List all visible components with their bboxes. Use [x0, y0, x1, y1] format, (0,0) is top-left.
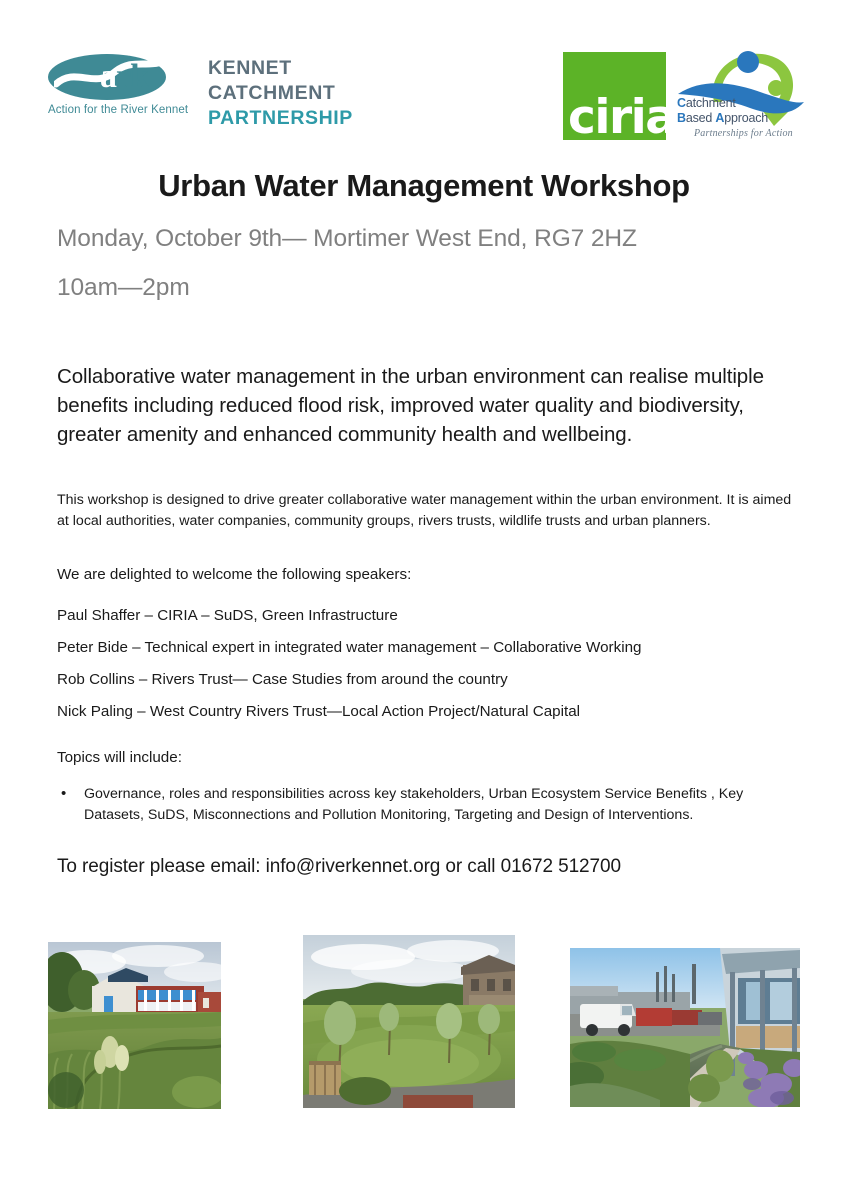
photo-green-detention-basin: [303, 935, 515, 1108]
catchment-based-approach-logo: Catchment Based Approach Partnerships fo…: [676, 46, 806, 146]
registration-contact: To register please email: info@riverkenn…: [57, 856, 621, 878]
caba-line-based-approach: Based Approach: [677, 111, 768, 126]
ark-tagline: Action for the River Kennet: [48, 104, 208, 116]
speaker-item: Paul Shaffer – CIRIA – SuDS, Green Infra…: [57, 607, 817, 624]
kcp-line-kennet: KENNET: [208, 56, 353, 81]
ark-logo: ark Action for the River Kennet: [48, 52, 208, 116]
kcp-line-catchment: CATCHMENT: [208, 81, 353, 106]
photo-school-building-swale: [48, 942, 221, 1109]
kcp-line-partnership: PARTNERSHIP: [208, 106, 353, 131]
photo-rain-garden-bioswale: [570, 948, 800, 1107]
speakers-list: Paul Shaffer – CIRIA – SuDS, Green Infra…: [57, 607, 817, 735]
speaker-item: Peter Bide – Technical expert in integra…: [57, 639, 817, 656]
event-date-location: Monday, October 9th— Mortimer West End, …: [57, 225, 637, 253]
speaker-item: Rob Collins – Rivers Trust— Case Studies…: [57, 671, 817, 688]
ciria-wordmark: ciria: [568, 96, 675, 140]
ark-letter-a: a: [100, 58, 116, 95]
page-title: Urban Water Management Workshop: [0, 168, 848, 204]
ciria-logo: ciria: [563, 52, 666, 140]
event-time: 10am—2pm: [57, 274, 190, 302]
caba-wordmark: Catchment Based Approach: [677, 96, 768, 126]
caba-line-catchment: Catchment: [677, 96, 768, 111]
ark-letters-rk: rk: [116, 58, 148, 95]
poster-page: ark Action for the River Kennet KENNET C…: [0, 0, 848, 1200]
ark-logo-mark: ark: [48, 52, 200, 102]
topics-lead-text: Topics will include:: [57, 749, 182, 766]
ark-wordmark: ark: [100, 56, 148, 98]
intro-paragraph: Collaborative water management in the ur…: [57, 362, 802, 449]
audience-paragraph: This workshop is designed to drive great…: [57, 490, 805, 532]
topics-list-item: Governance, roles and responsibilities a…: [57, 784, 797, 826]
caba-tagline: Partnerships for Action: [694, 128, 793, 139]
speakers-lead-text: We are delighted to welcome the followin…: [57, 566, 411, 583]
header-logos: ark Action for the River Kennet KENNET C…: [0, 0, 848, 155]
speaker-item: Nick Paling – West Country Rivers Trust—…: [57, 703, 817, 720]
kennet-catchment-partnership-wordmark: KENNET CATCHMENT PARTNERSHIP: [208, 56, 353, 131]
topics-list: Governance, roles and responsibilities a…: [57, 784, 797, 826]
